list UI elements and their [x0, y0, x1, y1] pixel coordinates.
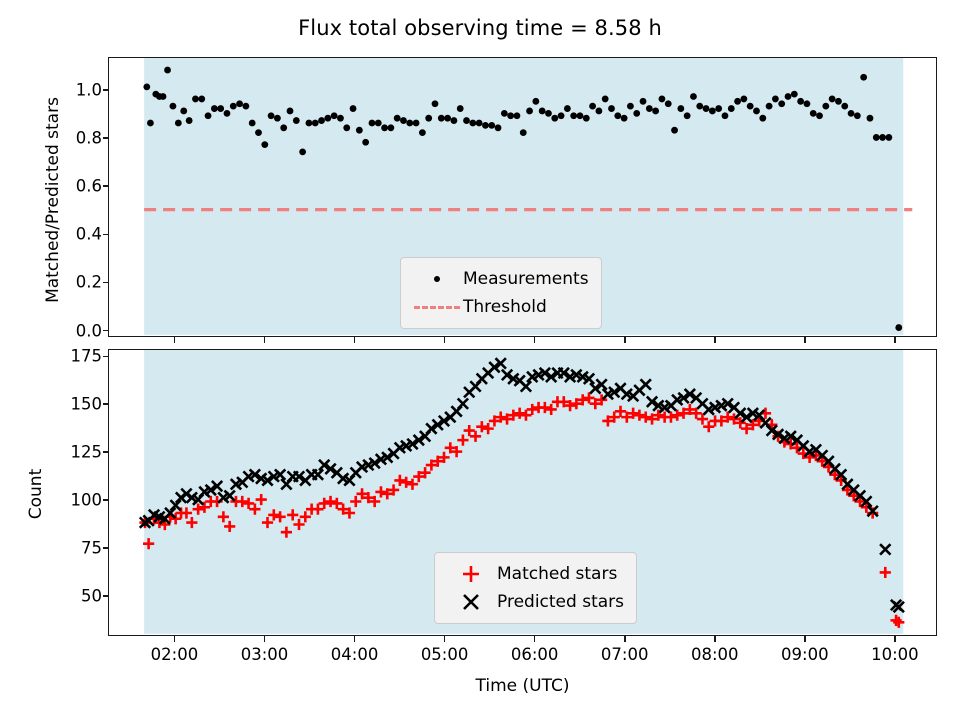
measurement-point: [482, 122, 489, 129]
x-axis-tick-label: 02:00: [134, 645, 214, 664]
measurement-point: [230, 103, 237, 110]
measurement-point: [532, 98, 539, 105]
ratio-ytick-label: 0.8: [48, 129, 102, 148]
measurement-point: [659, 96, 666, 103]
measurement-point: [873, 134, 880, 141]
count-ytick-label: 125: [48, 443, 102, 462]
measurement-point: [488, 122, 495, 129]
measurement-point: [696, 103, 703, 110]
measurement-point: [665, 100, 672, 107]
measurement-point: [728, 105, 735, 112]
measurement-point: [175, 120, 182, 127]
measurement-point: [848, 110, 855, 117]
tick-mark: [714, 636, 716, 642]
measurement-point: [589, 103, 596, 110]
x-axis-tick-label: 09:00: [765, 645, 845, 664]
measurement-point: [709, 108, 716, 115]
legend-item-predicted-stars[interactable]: Predicted stars: [445, 588, 624, 616]
measurement-point: [457, 105, 464, 112]
measurement-point: [526, 108, 533, 115]
measurement-point: [747, 103, 754, 110]
x-axis-tick-label: 08:00: [675, 645, 755, 664]
tick-mark: [804, 337, 806, 343]
ratio-ytick-label: 0.2: [48, 273, 102, 292]
legend-ratio-panel[interactable]: Measurements Threshold: [400, 257, 602, 329]
measurement-point: [306, 120, 313, 127]
measurement-point: [684, 112, 691, 119]
measurement-point: [438, 115, 445, 122]
measurement-point: [425, 115, 432, 122]
figure-canvas: Flux total observing time = 8.58 h Match…: [0, 0, 960, 720]
measurement-point: [804, 100, 811, 107]
tick-mark: [174, 337, 176, 343]
tick-mark: [264, 337, 266, 343]
dashed-line-icon: [411, 306, 463, 309]
dot-marker-icon: [411, 276, 463, 282]
legend-label-threshold: Threshold: [463, 297, 547, 317]
measurement-point: [242, 103, 249, 110]
ratio-ytick-label: 0.6: [48, 177, 102, 196]
measurement-point: [722, 112, 729, 119]
measurement-point: [753, 108, 760, 115]
measurement-point: [791, 91, 798, 98]
tick-mark: [354, 337, 356, 343]
measurement-point: [778, 100, 785, 107]
x-axis-tick-label: 06:00: [495, 645, 575, 664]
legend-count-panel[interactable]: Matched stars Predicted stars: [434, 552, 637, 624]
measurement-point: [841, 103, 848, 110]
measurement-point: [362, 139, 369, 146]
measurement-point: [640, 98, 647, 105]
tick-mark: [624, 636, 626, 642]
measurement-point: [249, 120, 256, 127]
tick-mark: [444, 636, 446, 642]
legend-item-matched-stars[interactable]: Matched stars: [445, 560, 624, 588]
measurement-point: [419, 129, 426, 136]
measurement-point: [602, 96, 609, 103]
measurement-point: [469, 120, 476, 127]
measurement-point: [198, 96, 205, 103]
measurement-point: [551, 115, 558, 122]
measurement-point: [520, 129, 527, 136]
count-ytick-label: 150: [48, 395, 102, 414]
measurement-point: [867, 115, 874, 122]
tick-mark: [894, 636, 896, 642]
measurement-point: [766, 103, 773, 110]
measurement-point: [690, 93, 697, 100]
tick-mark: [174, 636, 176, 642]
measurement-point: [413, 120, 420, 127]
tick-mark: [804, 636, 806, 642]
measurement-point: [816, 112, 823, 119]
measurement-point: [186, 117, 193, 124]
measurement-point: [280, 124, 287, 131]
plus-marker-icon: [445, 563, 497, 585]
measurement-point: [463, 117, 470, 124]
measurement-point: [539, 108, 546, 115]
tick-mark: [894, 337, 896, 343]
count-ytick-label: 175: [48, 347, 102, 366]
measurement-point: [432, 100, 439, 107]
chart-title: Flux total observing time = 8.58 h: [0, 16, 960, 40]
measurement-point: [180, 108, 187, 115]
measurement-point: [274, 115, 281, 122]
x-axis-tick-label: 05:00: [405, 645, 485, 664]
measurement-point: [621, 115, 628, 122]
measurement-point: [293, 117, 300, 124]
measurement-point: [514, 112, 521, 119]
measurement-point: [577, 112, 584, 119]
measurement-point: [400, 117, 407, 124]
measurement-point: [312, 120, 319, 127]
measurement-point: [394, 115, 401, 122]
measurement-point: [356, 127, 363, 134]
tick-mark: [264, 636, 266, 642]
measurement-point: [797, 98, 804, 105]
measurement-point: [810, 110, 817, 117]
tick-mark: [534, 636, 536, 642]
measurement-point: [545, 110, 552, 117]
measurement-point: [835, 98, 842, 105]
measurement-point: [879, 134, 886, 141]
measurement-point: [268, 112, 275, 119]
measurement-point: [595, 108, 602, 115]
measurement-point: [205, 112, 212, 119]
measurement-point: [507, 112, 514, 119]
measurement-point: [715, 105, 722, 112]
measurement-point: [495, 124, 502, 131]
measurement-point: [299, 148, 306, 155]
measurement-point: [255, 129, 262, 136]
x-axis-tick-label: 03:00: [224, 645, 304, 664]
measurement-point: [627, 103, 634, 110]
axis-label-x: Time (UTC): [108, 676, 937, 696]
measurement-point: [337, 115, 344, 122]
measurement-point: [224, 110, 231, 117]
measurement-point: [217, 105, 224, 112]
tick-mark: [444, 337, 446, 343]
measurement-point: [785, 93, 792, 100]
measurement-point: [375, 120, 382, 127]
measurement-point: [614, 112, 621, 119]
legend-label-matched-stars: Matched stars: [497, 564, 617, 584]
cross-marker-icon: [445, 591, 497, 613]
tick-mark: [714, 337, 716, 343]
measurement-point: [570, 112, 577, 119]
measurement-point: [160, 93, 167, 100]
measurement-point: [822, 103, 829, 110]
measurement-point: [387, 124, 394, 131]
measurement-point: [703, 105, 710, 112]
measurement-point: [633, 110, 640, 117]
measurement-point: [564, 105, 571, 112]
x-axis-tick-label: 07:00: [585, 645, 665, 664]
count-ytick-label: 50: [48, 587, 102, 606]
measurement-point: [451, 117, 458, 124]
x-axis-tick-label: 04:00: [315, 645, 395, 664]
count-ytick-label: 100: [48, 491, 102, 510]
x-axis-tick-label: 10:00: [855, 645, 935, 664]
measurement-point: [895, 324, 902, 331]
count-ytick-label: 75: [48, 539, 102, 558]
ratio-ytick-label: 0.4: [48, 225, 102, 244]
measurement-point: [261, 141, 268, 148]
measurement-point: [646, 105, 653, 112]
measurement-point: [381, 124, 388, 131]
measurement-point: [759, 115, 766, 122]
measurement-point: [476, 120, 483, 127]
ratio-ytick-label: 1.0: [48, 80, 102, 99]
measurement-point: [734, 98, 741, 105]
measurement-point: [236, 100, 243, 107]
measurement-point: [324, 115, 331, 122]
measurement-point: [331, 112, 338, 119]
measurement-point: [143, 83, 150, 90]
measurement-point: [444, 115, 451, 122]
measurement-point: [350, 105, 357, 112]
measurement-point: [318, 117, 325, 124]
legend-label-measurements: Measurements: [463, 269, 589, 289]
axis-label-y-bottom: Count: [26, 434, 46, 554]
measurement-point: [211, 105, 218, 112]
tick-mark: [534, 337, 536, 343]
measurement-point: [369, 120, 376, 127]
measurement-point: [671, 127, 678, 134]
tick-mark: [624, 337, 626, 343]
measurement-point: [170, 103, 177, 110]
measurement-point: [147, 120, 154, 127]
measurement-point: [677, 105, 684, 112]
measurement-point: [343, 124, 350, 131]
measurement-point: [885, 134, 892, 141]
measurement-point: [740, 96, 747, 103]
measurement-point: [406, 120, 413, 127]
measurement-point: [860, 74, 867, 81]
measurement-point: [558, 112, 565, 119]
measurement-point: [829, 96, 836, 103]
legend-item-threshold[interactable]: Threshold: [411, 293, 589, 321]
measurement-point: [583, 115, 590, 122]
legend-item-measurements[interactable]: Measurements: [411, 265, 589, 293]
ratio-ytick-label: 0.0: [48, 321, 102, 340]
measurement-point: [501, 110, 508, 117]
measurement-point: [772, 96, 779, 103]
tick-mark: [354, 636, 356, 642]
legend-label-predicted-stars: Predicted stars: [497, 592, 624, 612]
measurement-point: [854, 112, 861, 119]
measurement-point: [287, 108, 294, 115]
measurement-point: [608, 105, 615, 112]
measurement-point: [652, 108, 659, 115]
measurement-point: [164, 67, 171, 74]
measurement-point: [192, 96, 199, 103]
